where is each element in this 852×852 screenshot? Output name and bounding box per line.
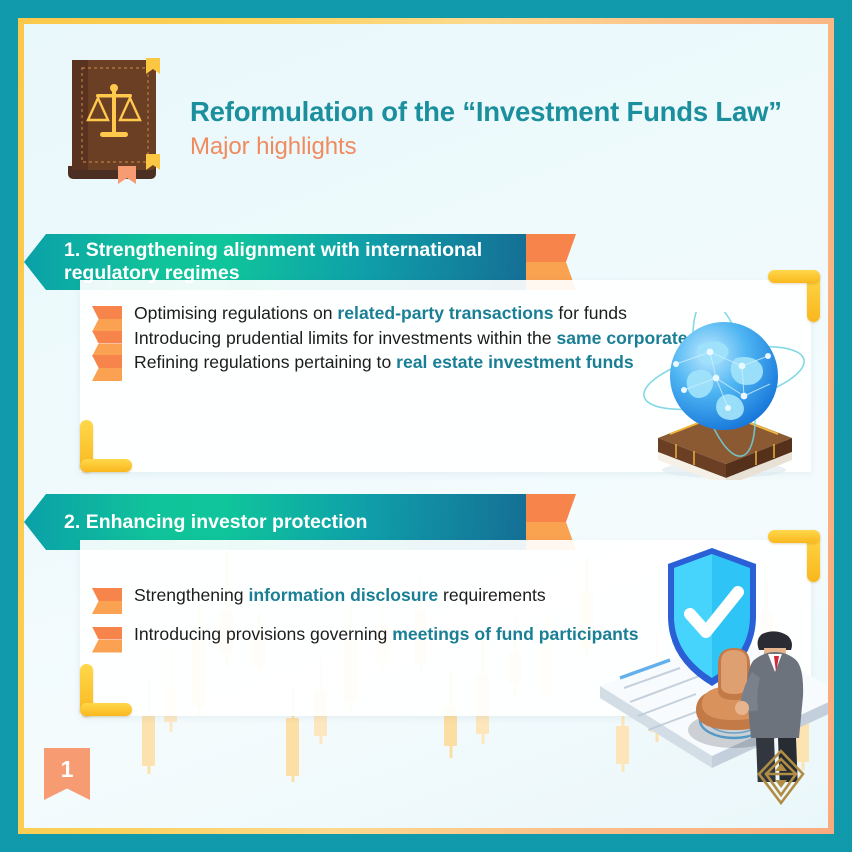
bullet-plain: Introducing provisions governing [134,624,392,644]
section-2-number: 2. [64,511,80,533]
bullet-plain: requirements [438,585,546,605]
section-2-bracket-bottom-left [80,664,132,716]
section-1-bracket-bottom-left [80,420,132,472]
decorative-frame: Reformulation of the “Investment Funds L… [18,18,834,834]
page-number-badge: 1 [44,748,90,800]
bullet-flag-icon [92,588,122,614]
bullet-highlight: related-party transactions [337,303,553,323]
bullet-plain: for funds [554,303,627,323]
bullet-text: Introducing provisions governing meeting… [134,624,639,644]
bullet-plain: Introducing prudential limits for invest… [134,328,556,348]
page-subtitle: Major highlights [190,133,782,161]
section-1-heading: 1. Strengthening alignment with internat… [64,239,508,285]
section-1-heading-text: Strengthening alignment with internation… [64,239,482,284]
section-1-bracket-top-right [768,270,820,322]
section-2-bracket-top-right [768,530,820,582]
section-2-heading: 2. Enhancing investor protection [64,511,367,534]
law-book-scales-icon [60,54,170,184]
section-1: 1. Strengthening alignment with internat… [24,234,828,290]
bullet-text: Refining regulations pertaining to real … [134,352,634,372]
globe-on-books-illustration [636,312,812,480]
title-block: Reformulation of the “Investment Funds L… [190,54,782,161]
bullet-flag-icon [92,627,122,653]
bullet-highlight: information disclosure [248,585,438,605]
page-title: Reformulation of the “Investment Funds L… [190,96,782,128]
bullet-plain: Optimising regulations on [134,303,337,323]
bullet-plain: Strengthening [134,585,248,605]
page-number: 1 [61,756,74,783]
section-2: 2. Enhancing investor protection Strengt… [24,494,828,550]
infographic-poster: Reformulation of the “Investment Funds L… [0,0,852,852]
bullet-plain: Refining regulations pertaining to [134,352,396,372]
bullet-highlight: real estate investment funds [396,352,634,372]
section-2-heading-text: Enhancing investor protection [86,511,368,533]
poster-canvas: Reformulation of the “Investment Funds L… [24,24,828,828]
bullet-flag-icon [92,355,122,381]
section-1-number: 1. [64,239,80,261]
bullet-text: Optimising regulations on related-party … [134,303,627,323]
bullet-text: Strengthening information disclosure req… [134,585,546,605]
poster-header: Reformulation of the “Investment Funds L… [60,54,782,184]
organisation-diamond-logo [756,748,806,806]
